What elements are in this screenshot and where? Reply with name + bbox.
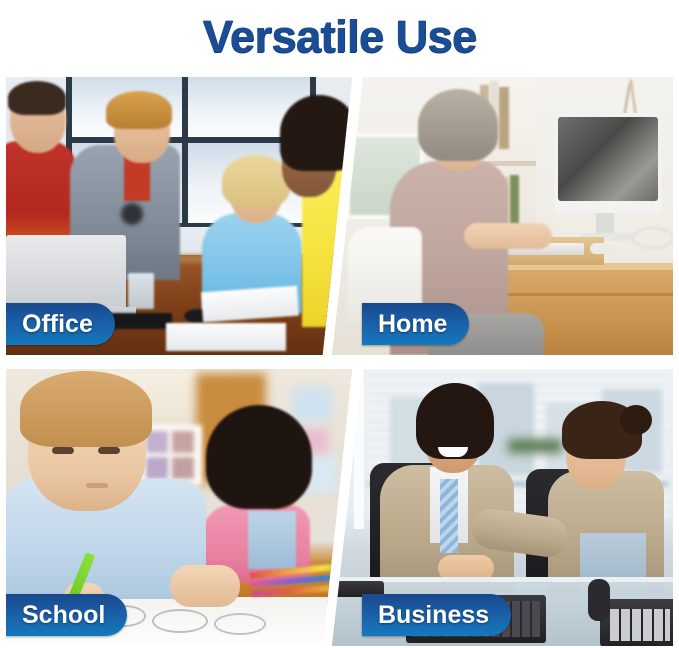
badge-label-home: Home	[378, 310, 447, 339]
panel-row-bottom: School	[0, 369, 679, 646]
badge-business: Business	[362, 594, 511, 636]
page-title: Versatile Use	[203, 11, 477, 63]
panel-school[interactable]: School	[6, 369, 352, 646]
panel-business[interactable]: Business	[332, 369, 673, 646]
badge-home: Home	[362, 303, 469, 345]
badge-label-business: Business	[378, 601, 489, 630]
badge-office: Office	[6, 303, 115, 345]
page-title-container: Versatile Use	[0, 0, 679, 74]
panel-office[interactable]: Office	[6, 77, 352, 355]
versatile-use-infographic: Versatile Use	[0, 0, 679, 648]
badge-school: School	[6, 594, 127, 636]
badge-label-office: Office	[22, 310, 93, 339]
panel-row-top: Office	[0, 77, 679, 355]
badge-label-school: School	[22, 601, 105, 630]
panel-home[interactable]: Home	[332, 77, 673, 355]
